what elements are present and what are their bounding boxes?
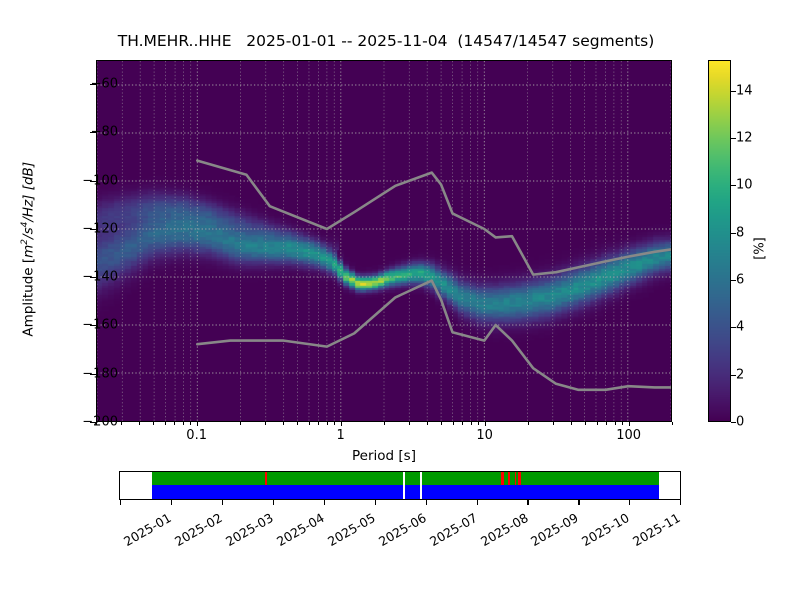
y-tick-label: −200	[58, 415, 118, 430]
x-minor-tick	[427, 422, 428, 425]
y-tick-label: −180	[58, 366, 118, 381]
x-minor-tick	[318, 422, 319, 425]
timeline-gap-marker	[501, 472, 505, 485]
x-minor-tick	[585, 422, 586, 425]
timeline-tick-mark	[629, 500, 630, 505]
x-axis-label: Period [s]	[96, 448, 672, 464]
x-minor-tick	[622, 422, 623, 425]
timeline-date-label: 2025-03	[223, 510, 276, 549]
x-minor-tick	[672, 422, 673, 425]
y-tick-label: −80	[58, 125, 118, 140]
y-tick-mark	[90, 84, 96, 85]
colorbar-tick-mark	[731, 422, 736, 423]
x-minor-tick	[462, 422, 463, 425]
colorbar-tick-label: 2	[736, 367, 744, 382]
timeline-tick-mark	[578, 500, 579, 505]
page-title: TH.MEHR..HHE 2025-01-01 -- 2025-11-04 (1…	[0, 32, 772, 50]
x-minor-tick	[553, 422, 554, 425]
colorbar-tick-mark	[731, 233, 736, 234]
x-minor-tick	[265, 422, 266, 425]
x-minor-tick	[240, 422, 241, 425]
colorbar-gradient	[709, 61, 730, 421]
timeline-date-label: 2025-05	[325, 510, 378, 549]
timeline-gap-marker	[518, 472, 521, 485]
colorbar-tick-mark	[731, 375, 736, 376]
peterson-noise-models	[97, 61, 671, 421]
colorbar-tick-mark	[731, 138, 736, 139]
x-minor-tick	[327, 422, 328, 425]
timeline-tick-mark	[171, 500, 172, 505]
timeline-tick-mark	[375, 500, 376, 505]
x-minor-tick	[453, 422, 454, 425]
x-tick-mark	[197, 422, 198, 426]
x-minor-tick	[139, 422, 140, 425]
y-tick-mark	[90, 277, 96, 278]
colorbar-tick-label: 0	[736, 415, 744, 430]
x-minor-tick	[409, 422, 410, 425]
psd-heatmap-axes[interactable]	[96, 60, 672, 422]
timeline-gap-marker	[508, 472, 510, 485]
timeline-tick-mark	[477, 500, 478, 505]
x-minor-tick	[183, 422, 184, 425]
timeline-nodata-marker	[403, 472, 405, 499]
colorbar-tick-mark	[731, 185, 736, 186]
timeline-tick-mark	[527, 500, 528, 505]
x-minor-tick	[174, 422, 175, 425]
x-tick-mark	[341, 422, 342, 426]
colorbar-tick-label: 8	[736, 225, 744, 240]
y-tick-label: −60	[58, 77, 118, 92]
x-minor-tick	[571, 422, 572, 425]
timeline-tick-mark	[324, 500, 325, 505]
timeline-date-label: 2025-02	[172, 510, 225, 549]
y-tick-mark	[90, 229, 96, 230]
y-axis-label: Amplitude [m2/s4/Hz] [dB]	[20, 89, 37, 409]
x-minor-tick	[153, 422, 154, 425]
x-tick-label: 10	[476, 428, 493, 443]
timeline-tick-mark	[222, 500, 223, 505]
timeline-gap-marker	[515, 472, 517, 485]
x-minor-tick	[528, 422, 529, 425]
colorbar-tick-label: 4	[736, 320, 744, 335]
timeline-tick-mark	[426, 500, 427, 505]
y-tick-label: −140	[58, 270, 118, 285]
ppsd-figure: TH.MEHR..HHE 2025-01-01 -- 2025-11-04 (1…	[0, 0, 800, 600]
x-tick-mark	[629, 422, 630, 426]
x-minor-tick	[96, 422, 97, 425]
x-minor-tick	[165, 422, 166, 425]
x-minor-tick	[471, 422, 472, 425]
colorbar-tick-mark	[731, 91, 736, 92]
x-minor-tick	[384, 422, 385, 425]
x-minor-tick	[478, 422, 479, 425]
timeline-date-label: 2025-06	[376, 510, 429, 549]
timeline-nodata-marker	[420, 472, 422, 499]
timeline-date-label: 2025-08	[478, 510, 531, 549]
y-tick-label: −100	[58, 173, 118, 188]
x-minor-tick	[334, 422, 335, 425]
y-tick-mark	[90, 181, 96, 182]
x-minor-tick	[283, 422, 284, 425]
y-tick-mark	[90, 132, 96, 133]
timeline-date-label: 2025-09	[528, 510, 581, 549]
x-minor-tick	[121, 422, 122, 425]
x-tick-mark	[485, 422, 486, 426]
timeline-date-label: 2025-10	[579, 510, 632, 549]
y-tick-label: −160	[58, 318, 118, 333]
y-tick-mark	[90, 374, 96, 375]
timeline-tick-mark	[120, 500, 121, 505]
timeline-tick-mark	[680, 500, 681, 505]
x-tick-label: 100	[616, 428, 641, 443]
colorbar-tick-mark	[731, 327, 736, 328]
colorbar-tick-label: 6	[736, 273, 744, 288]
y-tick-label: −120	[58, 221, 118, 236]
data-coverage-timeline[interactable]	[119, 471, 681, 500]
colorbar-tick-label: 12	[736, 131, 753, 146]
colorbar-label: [%]	[753, 189, 768, 309]
x-minor-tick	[297, 422, 298, 425]
timeline-gap-marker	[265, 472, 267, 485]
x-minor-tick	[615, 422, 616, 425]
x-minor-tick	[309, 422, 310, 425]
timeline-tick-mark	[273, 500, 274, 505]
timeline-date-label: 2025-07	[427, 510, 480, 549]
x-minor-tick	[606, 422, 607, 425]
timeline-date-label: 2025-01	[121, 510, 174, 549]
x-minor-tick	[441, 422, 442, 425]
x-minor-tick	[190, 422, 191, 425]
x-tick-label: 0.1	[186, 428, 207, 443]
timeline-date-label: 2025-04	[274, 510, 327, 549]
colorbar-tick-label: 10	[736, 178, 753, 193]
y-tick-mark	[90, 325, 96, 326]
timeline-date-label: 2025-11	[630, 510, 683, 549]
x-tick-label: 1	[337, 428, 345, 443]
colorbar[interactable]	[708, 60, 731, 422]
x-minor-tick	[597, 422, 598, 425]
colorbar-tick-label: 14	[736, 83, 753, 98]
colorbar-tick-mark	[731, 280, 736, 281]
